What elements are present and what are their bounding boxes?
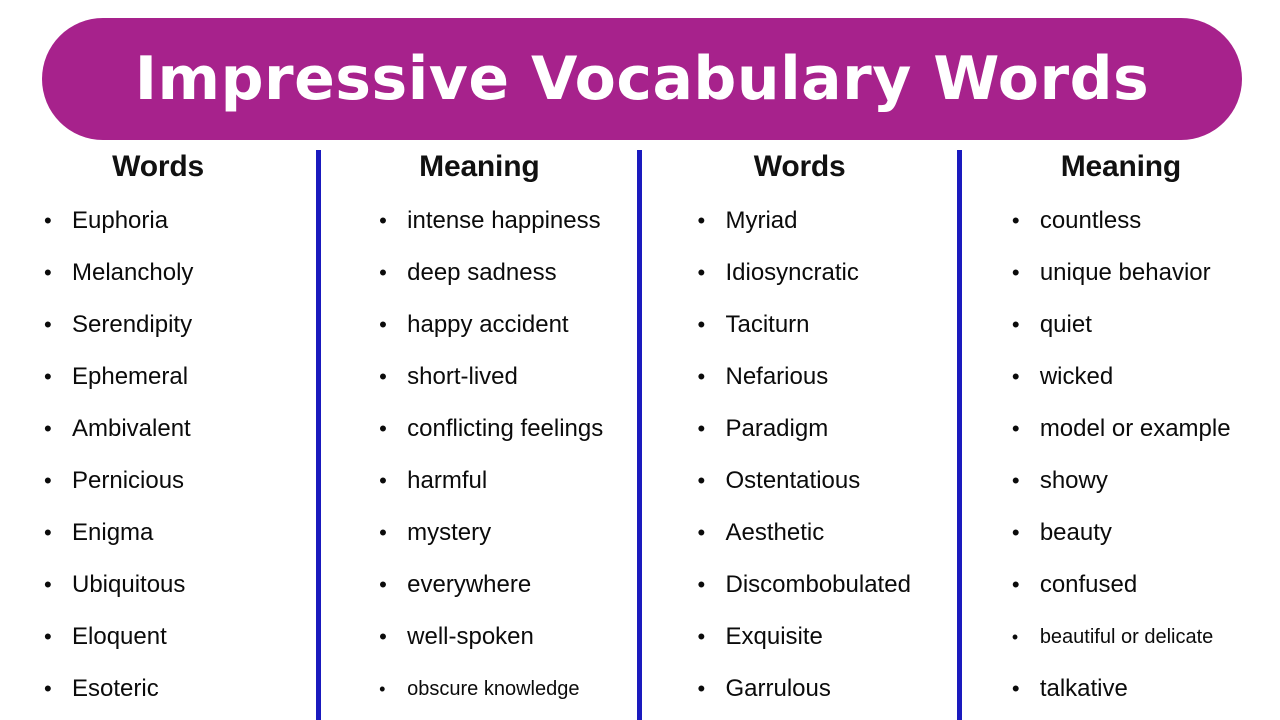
list-item: obscure knowledge <box>379 663 637 715</box>
list-item: confused <box>1012 559 1280 611</box>
list-item: happy accident <box>379 299 637 351</box>
list-item: talkative <box>1012 663 1280 715</box>
list-item: short-lived <box>379 351 637 403</box>
list-item: conflicting feelings <box>379 403 637 455</box>
meaning-list-2: countless unique behavior quiet wicked m… <box>1012 195 1280 715</box>
list-item: well-spoken <box>379 611 637 663</box>
list-item: Esoteric <box>44 663 316 715</box>
word-list-2: Myriad Idiosyncratic Taciturn Nefarious … <box>697 195 956 715</box>
list-item: Enigma <box>44 507 316 559</box>
column-meaning-2: Meaning countless unique behavior quiet … <box>962 150 1280 720</box>
list-item: mystery <box>379 507 637 559</box>
word-list-1: Euphoria Melancholy Serendipity Ephemera… <box>44 195 316 715</box>
list-item: Garrulous <box>697 663 956 715</box>
column-header-words-2: Words <box>697 150 956 185</box>
column-meaning-1: Meaning intense happiness deep sadness h… <box>321 150 637 720</box>
list-item: Aesthetic <box>697 507 956 559</box>
list-item: model or example <box>1012 403 1280 455</box>
vocabulary-table: Words Euphoria Melancholy Serendipity Ep… <box>0 150 1280 720</box>
list-item: beauty <box>1012 507 1280 559</box>
list-item: unique behavior <box>1012 247 1280 299</box>
list-item: Serendipity <box>44 299 316 351</box>
list-item: deep sadness <box>379 247 637 299</box>
list-item: Idiosyncratic <box>697 247 956 299</box>
list-item: Nefarious <box>697 351 956 403</box>
list-item: Paradigm <box>697 403 956 455</box>
list-item: harmful <box>379 455 637 507</box>
list-item: showy <box>1012 455 1280 507</box>
list-item: Discombobulated <box>697 559 956 611</box>
column-header-words-1: Words <box>44 150 316 185</box>
meaning-list-1: intense happiness deep sadness happy acc… <box>379 195 637 715</box>
list-item: Eloquent <box>44 611 316 663</box>
column-words-2: Words Myriad Idiosyncratic Taciturn Nefa… <box>642 150 956 720</box>
list-item: Ubiquitous <box>44 559 316 611</box>
title-banner: Impressive Vocabulary Words <box>42 18 1242 140</box>
list-item: Euphoria <box>44 195 316 247</box>
list-item: Melancholy <box>44 247 316 299</box>
list-item: quiet <box>1012 299 1280 351</box>
list-item: Taciturn <box>697 299 956 351</box>
list-item: Ostentatious <box>697 455 956 507</box>
list-item: Pernicious <box>44 455 316 507</box>
list-item: Ambivalent <box>44 403 316 455</box>
column-words-1: Words Euphoria Melancholy Serendipity Ep… <box>0 150 316 720</box>
list-item: wicked <box>1012 351 1280 403</box>
list-item: everywhere <box>379 559 637 611</box>
list-item: Ephemeral <box>44 351 316 403</box>
list-item: countless <box>1012 195 1280 247</box>
list-item: Exquisite <box>697 611 956 663</box>
list-item: intense happiness <box>379 195 637 247</box>
column-header-meaning-2: Meaning <box>1012 150 1280 185</box>
column-header-meaning-1: Meaning <box>379 150 637 185</box>
list-item: Myriad <box>697 195 956 247</box>
list-item: beautiful or delicate <box>1012 611 1280 663</box>
page-title: Impressive Vocabulary Words <box>135 49 1150 109</box>
